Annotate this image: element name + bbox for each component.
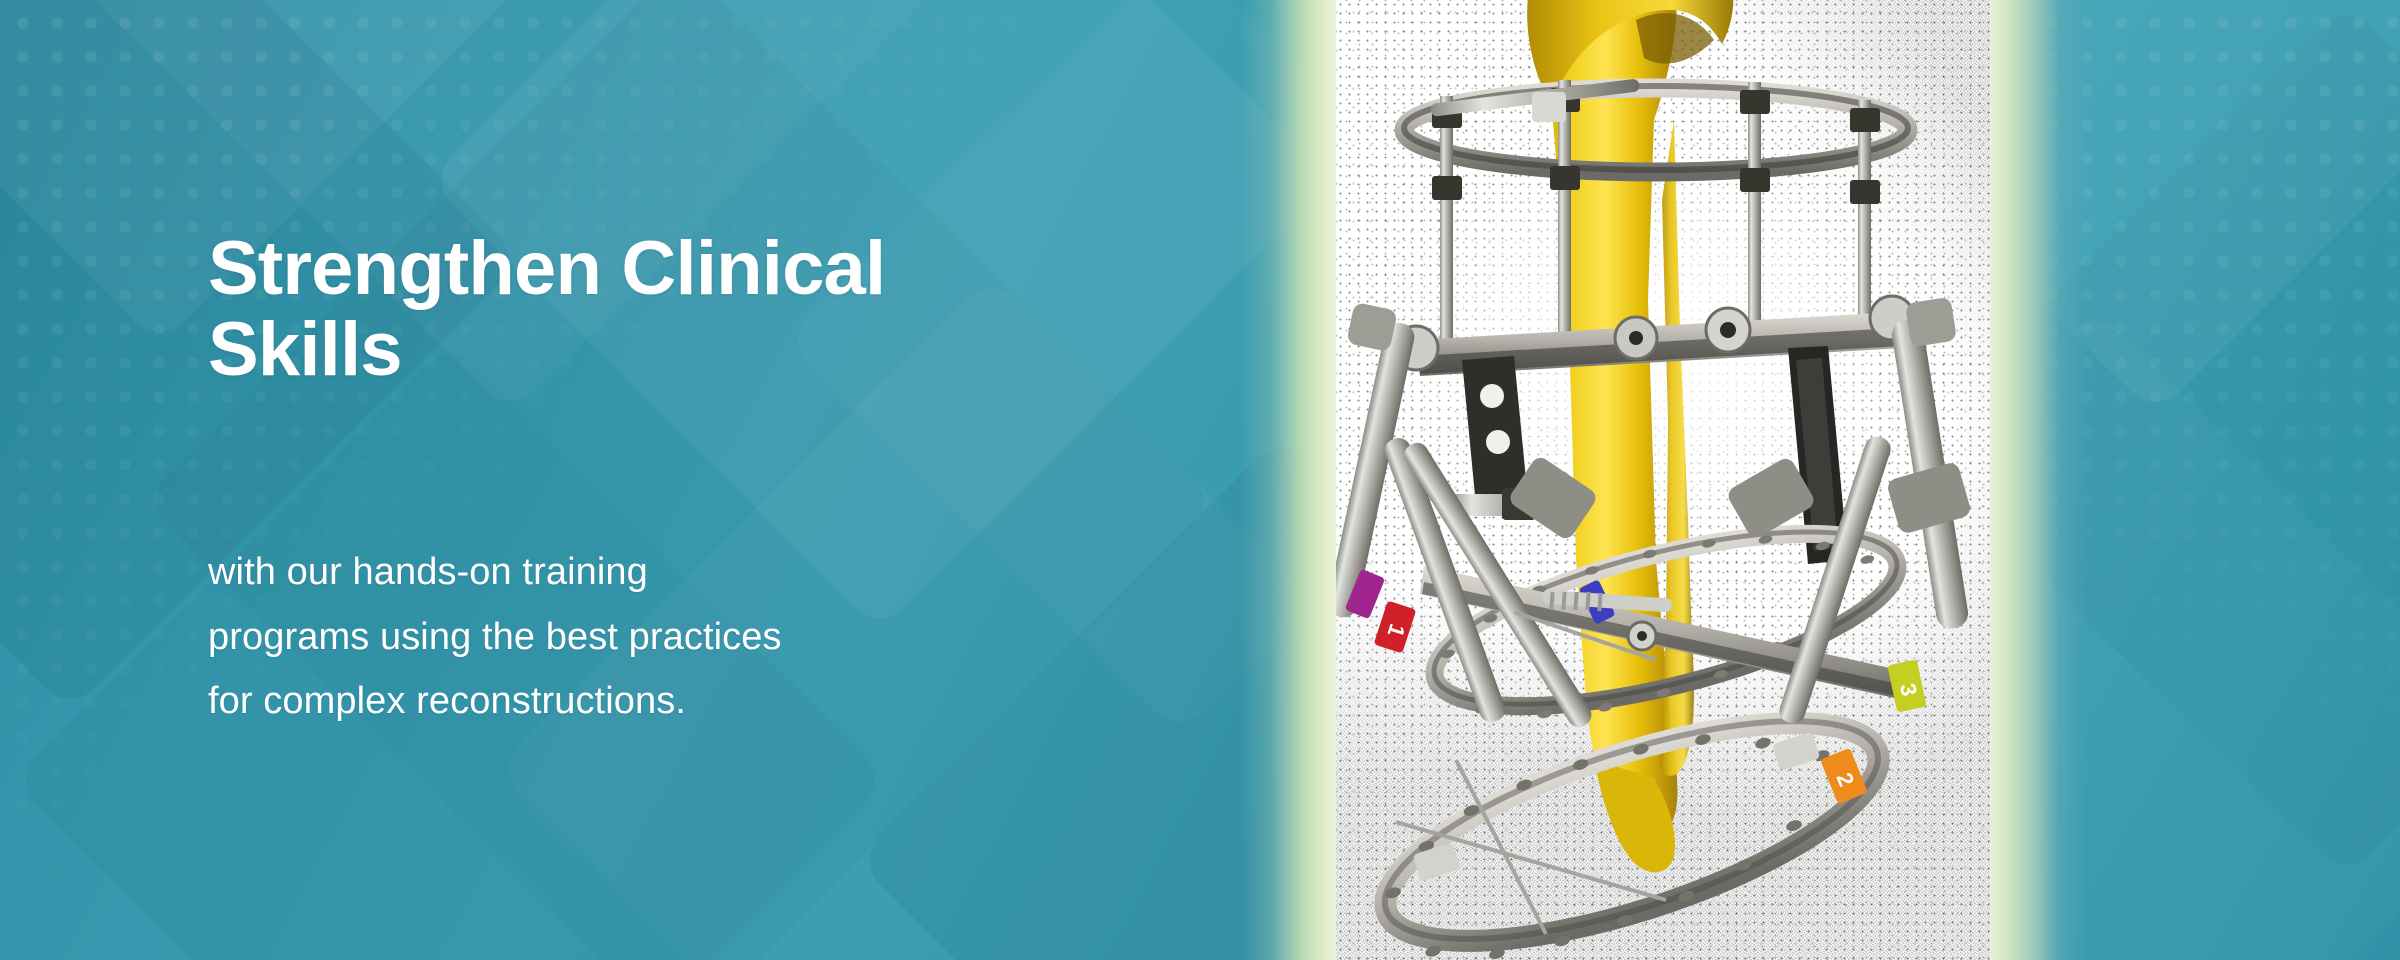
hero-subcopy: with our hands-on training programs usin…	[208, 540, 1068, 734]
external-fixator-illustration: 1 2 3	[1336, 0, 1996, 960]
strut-marker-3: 3	[1887, 659, 1926, 712]
bone-shadow	[1636, 13, 1714, 63]
subcopy-line: with our hands-on training	[208, 540, 1068, 605]
gradient-seam-left	[1240, 0, 1340, 960]
product-image: 1 2 3	[1336, 0, 1996, 960]
subcopy-line: programs using the best practices	[208, 605, 1068, 670]
strut-marker-1: 1	[1374, 600, 1417, 653]
dot-pattern	[0, 0, 1300, 960]
page-title: Strengthen Clinical Skills	[208, 228, 1088, 391]
threaded-rods-upper	[1432, 80, 1880, 346]
gradient-seam-right	[1990, 0, 2086, 960]
hero-banner: 1 2 3	[0, 0, 2400, 960]
teal-background-left	[0, 0, 1300, 960]
subcopy-line: for complex reconstructions.	[208, 669, 1068, 734]
